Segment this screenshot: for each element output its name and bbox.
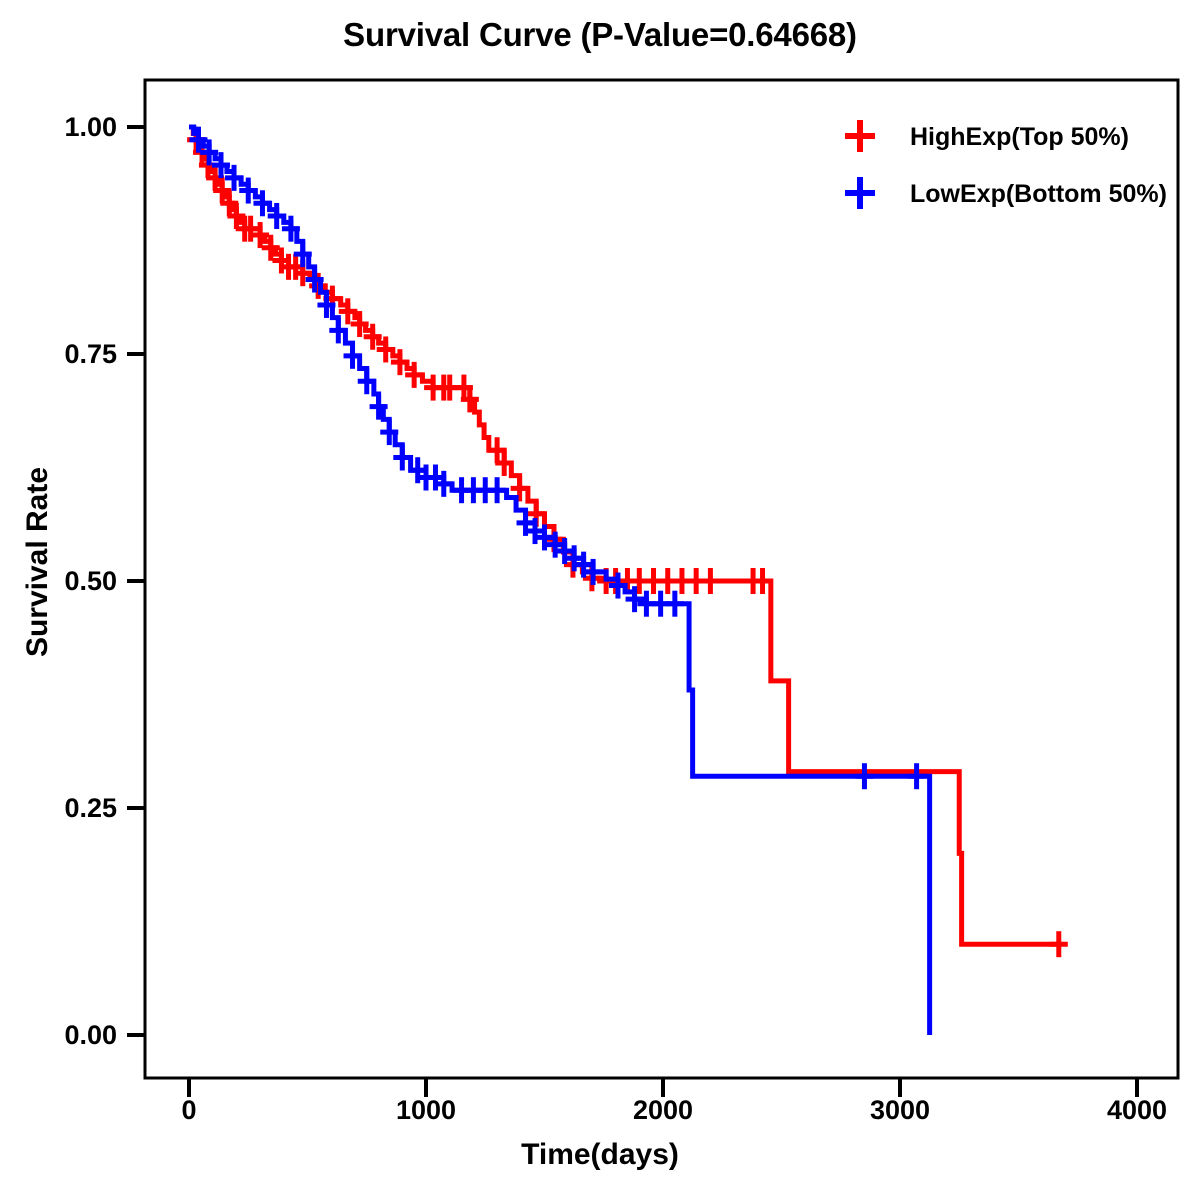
censor-marks <box>189 127 925 790</box>
legend-label: HighExp(Top 50%) <box>910 123 1129 151</box>
x-tick-label: 1000 <box>396 1095 456 1125</box>
legend-label: LowExp(Bottom 50%) <box>910 180 1167 208</box>
censor-marks <box>187 127 1068 957</box>
y-tick-label: 0.00 <box>64 1020 117 1050</box>
legend: HighExp(Top 50%)LowExp(Bottom 50%) <box>845 120 1167 209</box>
x-tick-label: 2000 <box>633 1095 693 1125</box>
series-layer <box>187 127 1068 1035</box>
survival-step-line <box>189 127 930 1035</box>
series-lowexp <box>189 127 930 1035</box>
series-highexp <box>187 127 1068 957</box>
x-tick-label: 0 <box>181 1095 196 1125</box>
y-tick-label: 1.00 <box>64 112 117 142</box>
y-tick-label: 0.25 <box>64 793 117 823</box>
plot-area: 01000200030004000 0.000.250.500.751.00 H… <box>0 0 1200 1200</box>
x-axis-ticks: 01000200030004000 <box>181 1079 1167 1125</box>
x-tick-label: 3000 <box>870 1095 930 1125</box>
y-axis-ticks: 0.000.250.500.751.00 <box>64 112 145 1050</box>
y-tick-label: 0.50 <box>64 566 117 596</box>
y-tick-label: 0.75 <box>64 339 117 369</box>
survival-curve-figure: Survival Curve (P-Value=0.64668) Surviva… <box>0 0 1200 1200</box>
x-tick-label: 4000 <box>1107 1095 1167 1125</box>
